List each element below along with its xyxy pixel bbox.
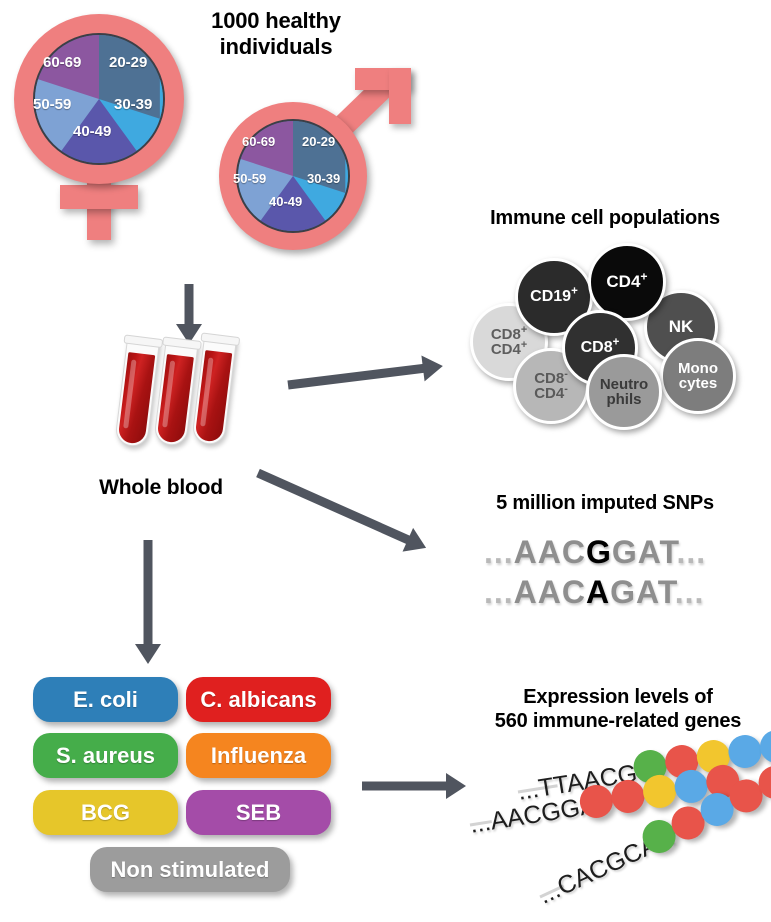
gene-bead (758, 728, 771, 766)
gene-strands-group: ...TTAACGG ...AACGGAT ...CACGCAA (0, 0, 771, 922)
diagram-canvas: 1000 healthy individuals 20-29 30-39 40-… (0, 0, 771, 922)
gene-bead (726, 733, 764, 771)
